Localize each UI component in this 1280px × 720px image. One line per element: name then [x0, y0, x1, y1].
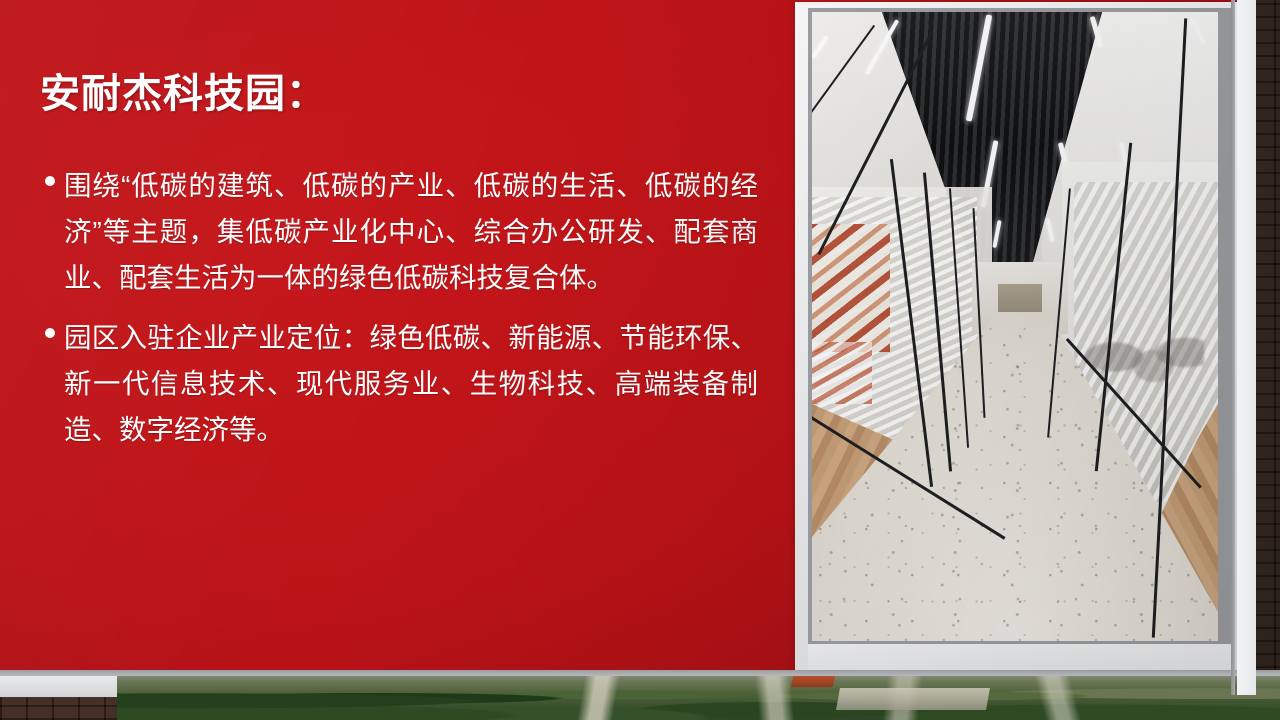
bullet-dot-icon [45, 176, 55, 186]
slide-red-background: 安耐杰科技园： 围绕“低碳的建筑、低碳的产业、低碳的生活、低碳的经济”等主题，集… [0, 0, 1237, 670]
slide-title: 安耐杰科技园： [40, 72, 740, 116]
picture-frame [795, 2, 1237, 670]
bullet-text: 围绕“低碳的建筑、低碳的产业、低碳的生活、低碳的经济”等主题，集低碳产业化中心、… [64, 163, 758, 301]
bullet-item: 园区入驻企业产业定位：绿色低碳、新能源、节能环保、新一代信息技术、现代服务业、生… [38, 315, 758, 453]
text-column: 安耐杰科技园： 围绕“低碳的建筑、低碳的产业、低碳的生活、低碳的经济”等主题，集… [0, 0, 790, 670]
slide-right-white-band [1237, 0, 1256, 695]
construction-pad-shape [836, 688, 990, 710]
bullet-dot-icon [45, 328, 55, 338]
slide-right-edge-line [1231, 0, 1235, 695]
underlying-slide-top-edge [0, 670, 1280, 676]
right-office-furniture [1084, 312, 1204, 402]
left-wall-graphic-secondary [812, 342, 872, 404]
bullet-list: 围绕“低碳的建筑、低碳的产业、低碳的生活、低碳的经济”等主题，集低碳产业化中心、… [38, 163, 758, 467]
structure-lines [117, 672, 1280, 720]
underlying-slide-left-panel [0, 676, 117, 697]
slide-canvas: 安耐杰科技园： 围绕“低碳的建筑、低碳的产业、低碳的生活、低碳的经济”等主题，集… [0, 0, 1280, 720]
aerial-photo-strip [117, 672, 1280, 720]
bullet-text: 园区入驻企业产业定位：绿色低碳、新能源、节能环保、新一代信息技术、现代服务业、生… [64, 315, 758, 453]
red-roof-shape [790, 676, 834, 687]
corridor-photo [812, 12, 1218, 641]
picture-frame-bottom [808, 644, 1234, 670]
bullet-item: 围绕“低碳的建筑、低碳的产业、低碳的生活、低碳的经济”等主题，集低碳产业化中心、… [38, 163, 758, 301]
